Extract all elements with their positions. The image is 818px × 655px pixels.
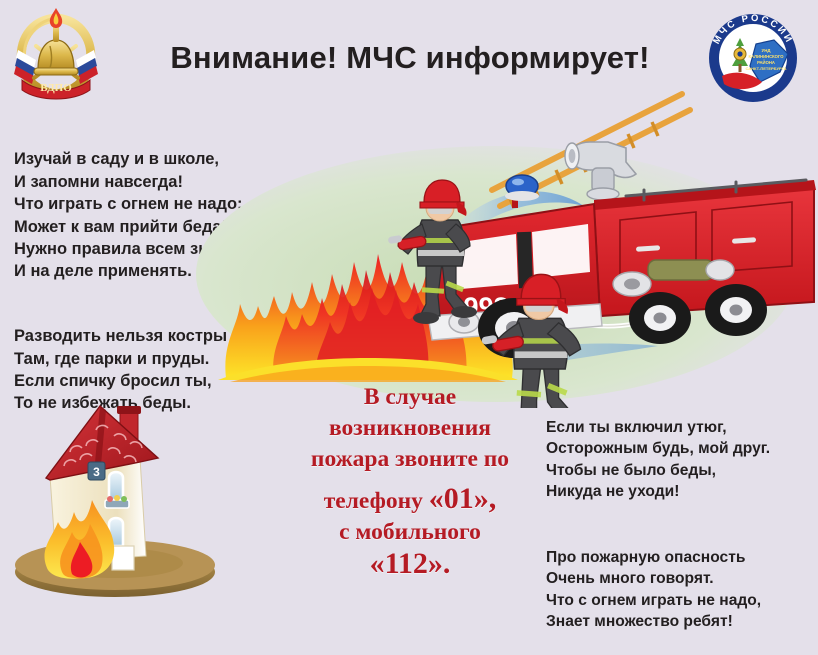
emergency-number-fire: «01»,: [429, 482, 497, 515]
emergency-line-2: возникновения: [286, 413, 534, 444]
emergency-line-4: телефону «01»,: [286, 483, 534, 517]
emergency-line-1: В случае: [286, 382, 534, 413]
mchs-inner-text-2: КАЛИНИНСКОГО: [748, 54, 784, 59]
page-title: Внимание! МЧС информирует!: [150, 40, 670, 76]
emergency-phone-label: телефону: [324, 488, 429, 514]
house-door: [112, 546, 134, 570]
mchs-inner-text-4: САНКТ-ПЕТЕРБУРГА: [745, 66, 786, 71]
emergency-call-text: В случае возникновения пожара звоните по…: [286, 382, 534, 579]
mchs-inner-text-1: УНД: [761, 48, 771, 53]
mchs-inner-text-3: РАЙОНА: [757, 60, 775, 65]
fire-scene: 998: [196, 78, 818, 408]
poster-canvas: ВДПО МЧС РОССИИ: [0, 0, 818, 611]
emergency-line-3: пожара звоните по: [286, 444, 534, 475]
burning-house: 3: [8, 400, 222, 605]
emergency-line-5: с мобильного: [286, 517, 534, 548]
poem-right-stanza-1: Если ты включил утюг, Осторожным будь, м…: [546, 417, 814, 503]
house-number-badge: 3: [88, 462, 105, 480]
poem-right: Если ты включил утюг, Осторожным будь, м…: [546, 395, 814, 655]
vdpo-emblem: ВДПО: [10, 6, 102, 102]
poem-right-stanza-2: Про пожарную опасность Очень много говор…: [546, 547, 814, 633]
emergency-number-mobile: «112».: [286, 548, 534, 579]
house-number-text: 3: [93, 465, 100, 479]
vdpo-banner-text: ВДПО: [40, 82, 72, 94]
